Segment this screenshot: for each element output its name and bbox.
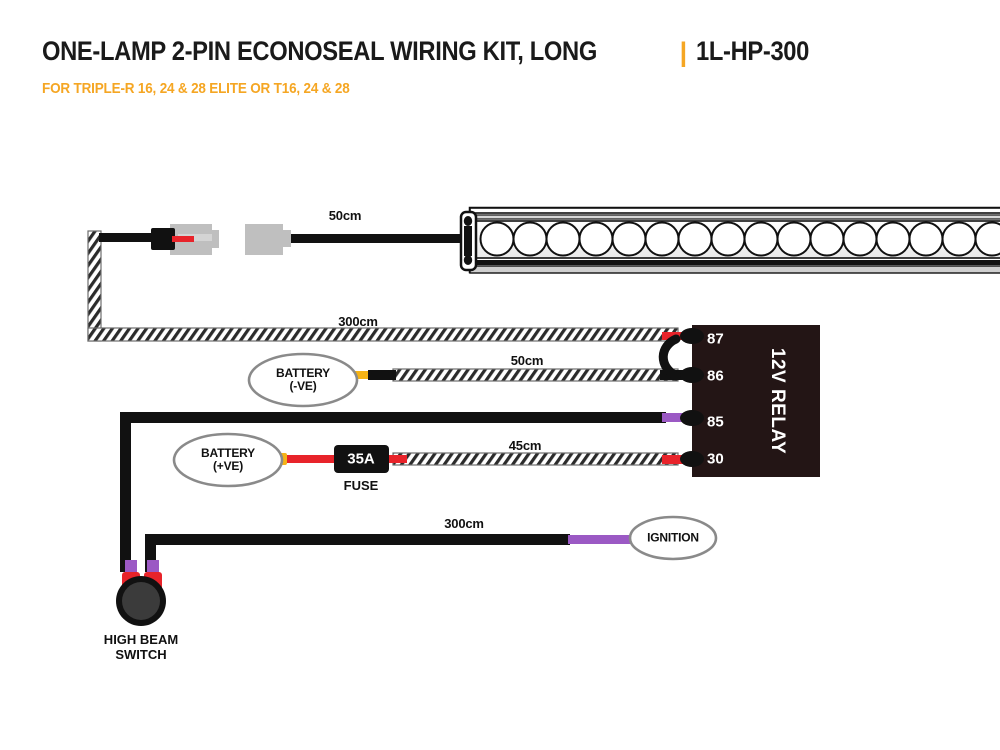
- title-main-text: ONE-LAMP 2-PIN ECONOSEAL WIRING KIT, LON…: [42, 36, 597, 67]
- relay-jumper-87-86: [663, 339, 676, 376]
- relay-block: [680, 325, 820, 477]
- switch-caption-line2: SWITCH: [104, 647, 178, 662]
- switch-caption-line1: HIGH BEAM: [104, 632, 178, 647]
- label-ignition: IGNITION: [647, 532, 699, 545]
- page-title: ONE-LAMP 2-PIN ECONOSEAL WIRING KIT, LON…: [42, 36, 825, 67]
- length-label-lamp-lead: 50cm: [329, 208, 361, 223]
- length-label-battery-pos: 45cm: [509, 438, 541, 453]
- led-light-bar: [461, 208, 1000, 273]
- length-label-ignition: 300cm: [444, 516, 483, 531]
- econoseal-2-pin-connector: [151, 224, 291, 255]
- label-battery-negative: BATTERY (-VE): [276, 367, 330, 393]
- relay-terminal-87: 87: [707, 331, 724, 348]
- lamp-lead-cable: [290, 234, 462, 243]
- page-subtitle: FOR TRIPLE-R 16, 24 & 28 ELITE OR T16, 2…: [42, 80, 350, 97]
- length-label-main-harness: 300cm: [338, 314, 377, 329]
- relay-terminal-86: 86: [707, 368, 724, 385]
- ignition-name: IGNITION: [647, 532, 699, 545]
- ignition-lead-300cm: [145, 534, 638, 572]
- relay-terminal-30: 30: [707, 451, 724, 468]
- battery-positive-polarity: (+VE): [201, 460, 255, 473]
- battery-positive-lead-45cm: [243, 445, 694, 473]
- title-divider: |: [680, 37, 688, 68]
- fuse-caption: FUSE: [344, 478, 379, 493]
- page-header: ONE-LAMP 2-PIN ECONOSEAL WIRING KIT, LON…: [0, 0, 1000, 120]
- relay-body-label: 12V RELAY: [766, 348, 788, 454]
- high-beam-switch-caption: HIGH BEAM SWITCH: [104, 632, 178, 662]
- led-optics: [481, 223, 1000, 256]
- lamp-end-bracket: [461, 212, 476, 270]
- part-number: 1L-HP-300: [696, 36, 809, 67]
- battery-negative-polarity: (-VE): [276, 380, 330, 393]
- battery-negative-lead-50cm: [320, 362, 696, 388]
- relay-terminal-85: 85: [707, 414, 724, 431]
- length-label-battery-neg: 50cm: [511, 353, 543, 368]
- fuse-rating: 35A: [347, 451, 375, 468]
- wiring-diagram: 50cm 300cm 50cm 45cm 300cm BATTERY (-VE)…: [0, 120, 1000, 750]
- label-battery-positive: BATTERY (+VE): [201, 447, 255, 473]
